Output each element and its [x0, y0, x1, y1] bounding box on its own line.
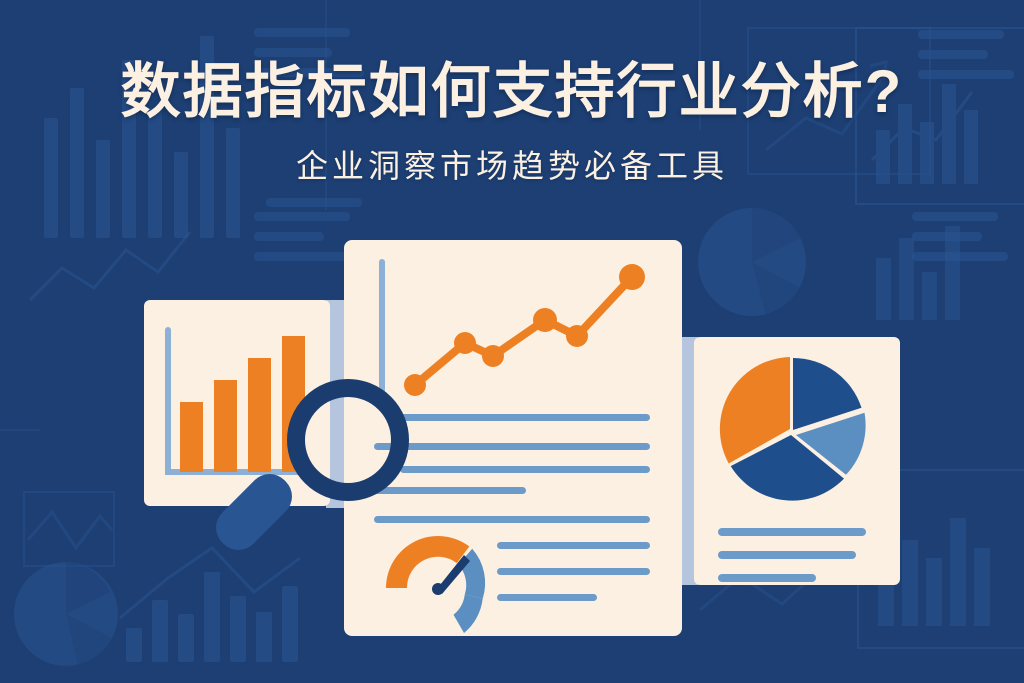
text-line [497, 568, 650, 575]
text-line [497, 542, 650, 549]
bar-2 [214, 380, 237, 472]
bar-3 [248, 358, 271, 472]
text-line [400, 466, 650, 473]
title-block: 数据指标如何支持行业分析? 企业洞察市场趋势必备工具 [0, 0, 1024, 182]
text-line [718, 574, 816, 582]
text-line [497, 594, 597, 601]
line-point-4 [533, 308, 557, 332]
line-point-5 [566, 325, 588, 347]
line-point-2 [454, 332, 476, 354]
gauge-hub [432, 583, 444, 595]
page-title: 数据指标如何支持行业分析? [0, 0, 1024, 122]
text-line [374, 516, 650, 523]
bar-1 [180, 402, 203, 472]
line-point-3 [482, 345, 504, 367]
poster-canvas: 数据指标如何支持行业分析? 企业洞察市场趋势必备工具 [0, 0, 1024, 683]
page-subtitle: 企业洞察市场趋势必备工具 [0, 122, 1024, 182]
text-line [374, 487, 526, 494]
line-point-1 [404, 374, 426, 396]
text-line [400, 414, 650, 421]
text-line [718, 528, 866, 536]
line-point-6 [619, 264, 645, 290]
text-line [718, 551, 856, 559]
pie-chart-card [682, 337, 900, 585]
text-line [374, 443, 650, 450]
